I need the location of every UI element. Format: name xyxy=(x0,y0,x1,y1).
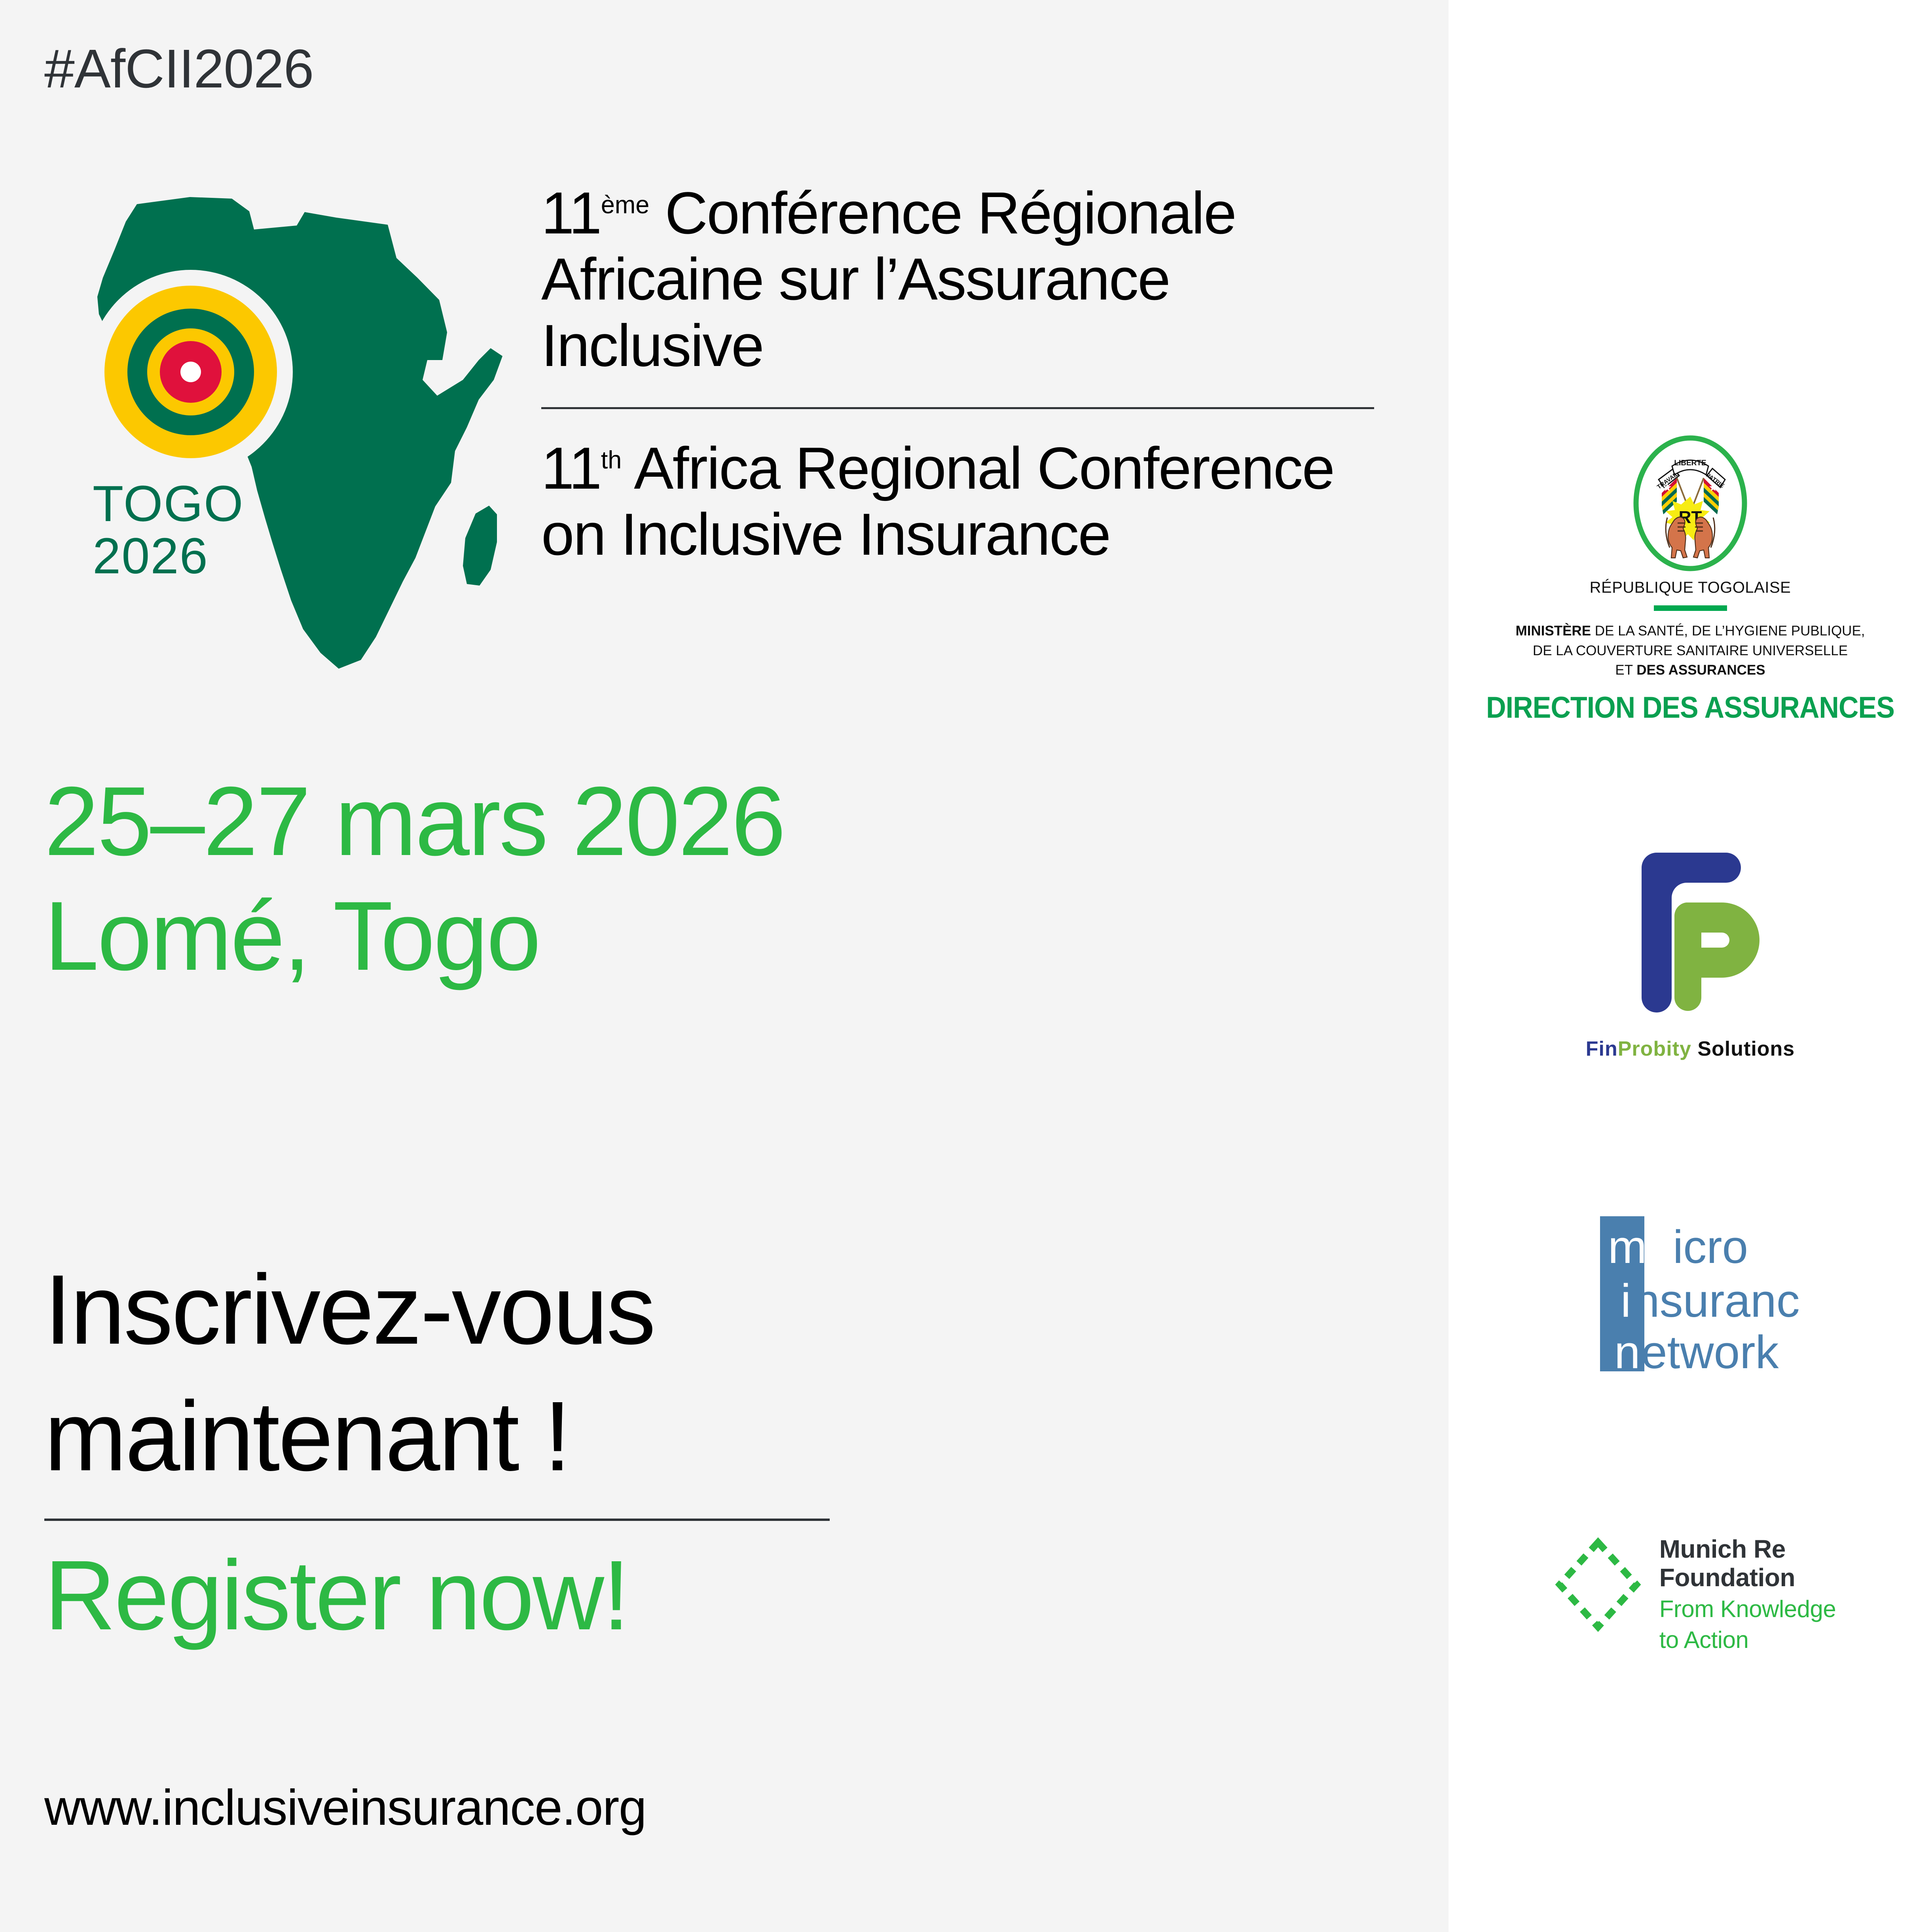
ministry-label: MINISTÈRE DE LA SANTÉ, DE L’HYGIENE PUBL… xyxy=(1449,621,1932,680)
event-date-location: 25–27 mars 2026 Lomé, Togo xyxy=(44,764,1192,993)
finprobity-word-fin: Fin xyxy=(1586,1037,1618,1060)
svg-text:LIBERTE: LIBERTE xyxy=(1674,459,1706,467)
microinsurance-network-logo-icon: m icro i nsurance n etwork xyxy=(1579,1211,1801,1377)
min-word-icro: icro xyxy=(1673,1221,1748,1273)
conference-promo-poster: #AfCII2026 TOGO 2026 xyxy=(0,0,1932,1932)
min-initial-m: m xyxy=(1608,1221,1647,1273)
ministry-line-2: DE LA COUVERTURE SANITAIRE UNIVERSELLE xyxy=(1533,643,1848,658)
title-en-ordinal: 11 xyxy=(541,435,601,501)
sponsor-togo-government: LIBERTE TRAVAIL PATRIE xyxy=(1449,435,1932,725)
togo-2026-wordmark: TOGO 2026 xyxy=(93,479,263,584)
republic-label: RÉPUBLIQUE TOGOLAISE xyxy=(1449,579,1932,597)
mrf-name-line-1: Munich Re xyxy=(1659,1535,1836,1564)
mrf-tagline-line-1: From Knowledge xyxy=(1659,1596,1836,1623)
main-panel: #AfCII2026 TOGO 2026 xyxy=(0,0,1449,1932)
call-to-action: Inscrivez-vous maintenant ! Register now… xyxy=(44,1246,994,1653)
mrf-name-line-2: Foundation xyxy=(1659,1564,1836,1592)
finprobity-word-solutions: Solutions xyxy=(1691,1037,1795,1060)
sponsor-finprobity: FinProbity Solutions xyxy=(1449,829,1932,1061)
togo-coat-of-arms-icon: LIBERTE TRAVAIL PATRIE xyxy=(1631,435,1750,572)
ministry-bold-3: DES ASSURANCES xyxy=(1636,662,1765,678)
min-initial-i: i xyxy=(1621,1275,1631,1327)
direction-des-assurances-label: DIRECTION DES ASSURANCES xyxy=(1468,690,1913,725)
website-url[interactable]: www.inclusiveinsurance.org xyxy=(44,1778,646,1836)
sponsor-microinsurance-network: m icro i nsurance n etwork xyxy=(1449,1211,1932,1377)
cta-register-fr[interactable]: Inscrivez-vous maintenant ! xyxy=(44,1246,994,1500)
cta-register-en[interactable]: Register now! xyxy=(44,1537,994,1653)
green-separator-bar xyxy=(1654,605,1727,611)
title-divider xyxy=(541,407,1374,409)
min-initial-n: n xyxy=(1614,1326,1640,1377)
africa-map-icon xyxy=(59,174,530,688)
title-fr-ordinal: 11 xyxy=(541,180,601,246)
min-word-etwork: etwork xyxy=(1641,1326,1779,1377)
ministry-prefix-3: ET xyxy=(1615,662,1636,678)
logo-line-2026: 2026 xyxy=(93,529,263,584)
title-en-rest: Africa Regional Conference on Inclusive … xyxy=(541,435,1334,567)
event-location: Lomé, Togo xyxy=(44,878,1192,993)
title-fr-ordinal-suffix: ème xyxy=(601,191,650,219)
finprobity-monogram-icon xyxy=(1619,829,1761,1027)
sponsor-sidebar: LIBERTE TRAVAIL PATRIE xyxy=(1449,0,1932,1932)
conference-title-fr: 11ème Conférence Régionale Africaine sur… xyxy=(541,180,1376,379)
cta-divider xyxy=(44,1519,830,1521)
event-hashtag: #AfCII2026 xyxy=(44,38,313,100)
munich-re-diamond-icon xyxy=(1553,1535,1644,1634)
finprobity-wordmark: FinProbity Solutions xyxy=(1449,1037,1932,1061)
event-logo: TOGO 2026 xyxy=(59,174,530,688)
finprobity-word-probity: Probity xyxy=(1618,1037,1691,1060)
sponsor-munich-re-foundation: Munich Re Foundation From Knowledge to A… xyxy=(1449,1535,1932,1653)
event-dates: 25–27 mars 2026 xyxy=(44,764,1192,878)
ministry-bold-1: MINISTÈRE xyxy=(1515,623,1591,639)
conference-titles: 11ème Conférence Régionale Africaine sur… xyxy=(541,180,1376,567)
mrf-tagline-line-2: to Action xyxy=(1659,1627,1836,1653)
ministry-rest-1: DE LA SANTÉ, DE L’HYGIENE PUBLIQUE, xyxy=(1591,623,1865,639)
logo-line-togo: TOGO xyxy=(93,479,263,529)
title-en-ordinal-suffix: th xyxy=(601,446,622,474)
min-word-nsurance: nsurance xyxy=(1634,1275,1801,1327)
conference-title-en: 11th Africa Regional Conference on Inclu… xyxy=(541,435,1376,568)
